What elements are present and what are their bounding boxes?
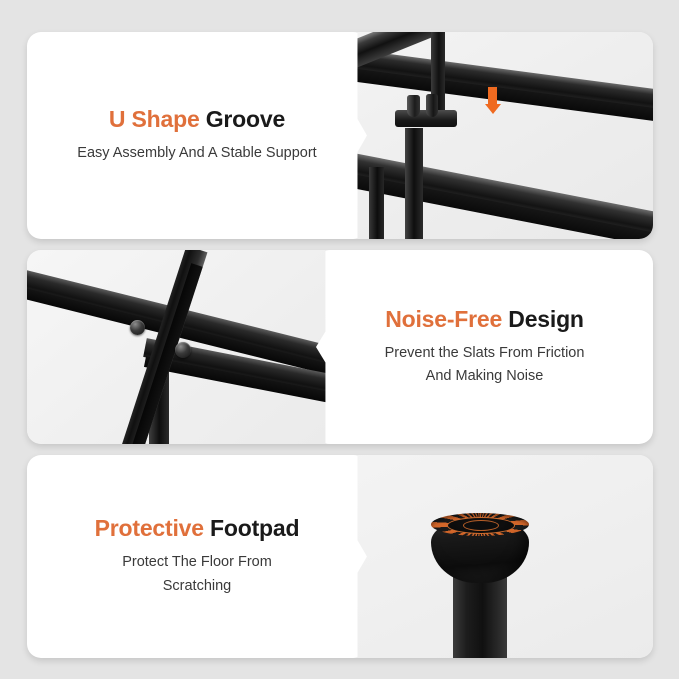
- u-groove-prong-right: [426, 94, 438, 117]
- feature-title-noise-free-design: Noise-Free Design: [385, 306, 584, 333]
- feature-title-highlight: Protective: [95, 515, 204, 541]
- feature-title-rest: Footpad: [204, 515, 300, 541]
- feature-title-u-shape-groove: U Shape Groove: [109, 106, 285, 133]
- arrow-shaft: [488, 87, 497, 104]
- u-groove-prong-left: [407, 95, 420, 117]
- feature-infographic: U Shape Groove Easy Assembly And A Stabl…: [0, 0, 679, 679]
- bolt-lower-icon: [175, 342, 191, 358]
- frame-leg-left: [369, 167, 384, 239]
- feature-text-card-u-shape-groove: U Shape Groove Easy Assembly And A Stabl…: [27, 32, 367, 239]
- feature-title-rest: Design: [502, 306, 584, 332]
- feature-title-highlight: U Shape: [109, 106, 200, 132]
- feature-panel-noise-free-design: Noise-Free Design Prevent the Slats From…: [27, 250, 653, 444]
- feature-subtitle-protective-footpad: Protect The Floor From Scratching: [95, 551, 300, 598]
- feature-subtitle-u-shape-groove: Easy Assembly And A Stable Support: [77, 142, 316, 165]
- feature-title-rest: Groove: [200, 106, 286, 132]
- feature-text-card-noise-free-design: Noise-Free Design Prevent the Slats From…: [316, 250, 653, 444]
- feature-panel-protective-footpad: Protective Footpad Protect The Floor Fro…: [27, 455, 653, 658]
- frame-leg-center: [405, 128, 423, 239]
- orange-down-arrow-icon: [485, 87, 499, 114]
- feature-title-highlight: Noise-Free: [385, 306, 502, 332]
- feature-panel-u-shape-groove: U Shape Groove Easy Assembly And A Stabl…: [27, 32, 653, 239]
- footpad-grip-ring-core: [463, 520, 499, 531]
- bolt-upper-icon: [130, 320, 145, 335]
- arrow-head: [485, 104, 501, 114]
- feature-title-protective-footpad: Protective Footpad: [95, 515, 300, 542]
- feature-subtitle-noise-free-design: Prevent the Slats From Friction And Maki…: [377, 342, 592, 389]
- feature-text-card-protective-footpad: Protective Footpad Protect The Floor Fro…: [27, 455, 367, 658]
